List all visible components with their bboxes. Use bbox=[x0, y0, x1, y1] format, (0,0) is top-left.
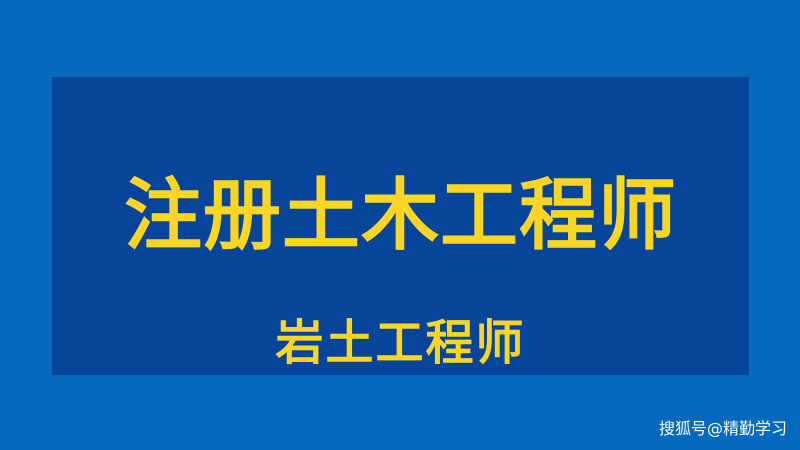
watermark-label: 搜狐号@精勤学习 bbox=[659, 419, 787, 439]
page-subtitle: 岩土工程师 bbox=[52, 319, 749, 367]
page-title: 注册土木工程师 bbox=[52, 177, 749, 255]
poster-canvas: 注册土木工程师 岩土工程师 搜狐号@精勤学习 bbox=[0, 0, 800, 450]
title-panel: 注册土木工程师 岩土工程师 bbox=[52, 77, 749, 375]
